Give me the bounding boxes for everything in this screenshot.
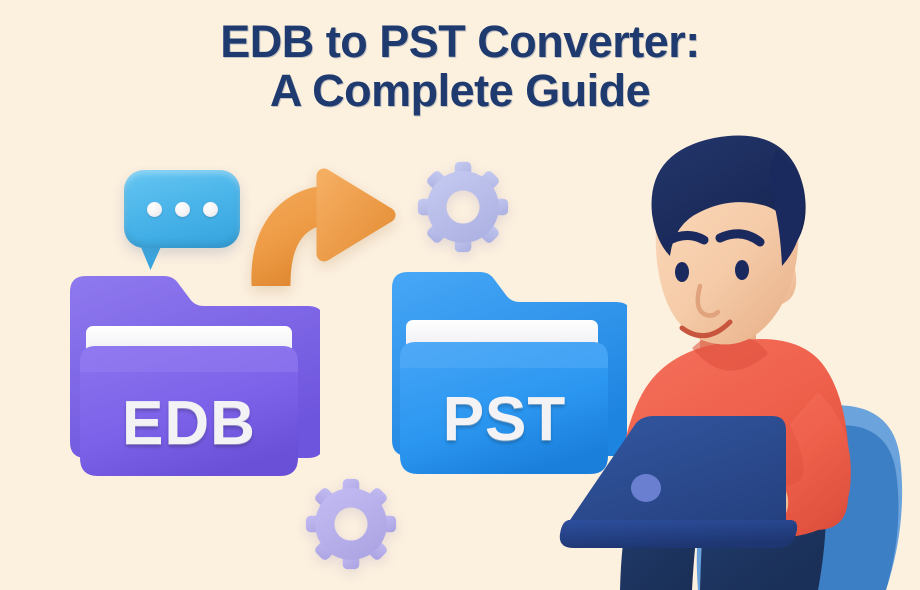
- person-eye-right: [735, 260, 749, 280]
- page-title-line-2: A Complete Guide: [0, 67, 920, 116]
- page-title: EDB to PST Converter: A Complete Guide: [0, 18, 920, 115]
- chat-dot-1: [147, 202, 162, 217]
- laptop: [556, 408, 816, 590]
- banner-canvas: EDB to PST Converter: A Complete Guide: [0, 0, 920, 590]
- person-eye-left: [675, 262, 689, 282]
- folder-edb: EDB: [58, 266, 320, 490]
- laptop-logo: [631, 474, 661, 502]
- gear-icon-top: [417, 161, 509, 253]
- chat-dot-3: [203, 202, 218, 217]
- chat-bubble-dots: [124, 170, 240, 248]
- page-title-line-1: EDB to PST Converter:: [0, 18, 920, 67]
- chat-dot-2: [175, 202, 190, 217]
- chat-bubble-icon: [124, 170, 240, 248]
- folder-edb-graphic: [58, 266, 320, 490]
- laptop-base: [560, 520, 797, 548]
- gear-icon-bottom: [305, 478, 397, 570]
